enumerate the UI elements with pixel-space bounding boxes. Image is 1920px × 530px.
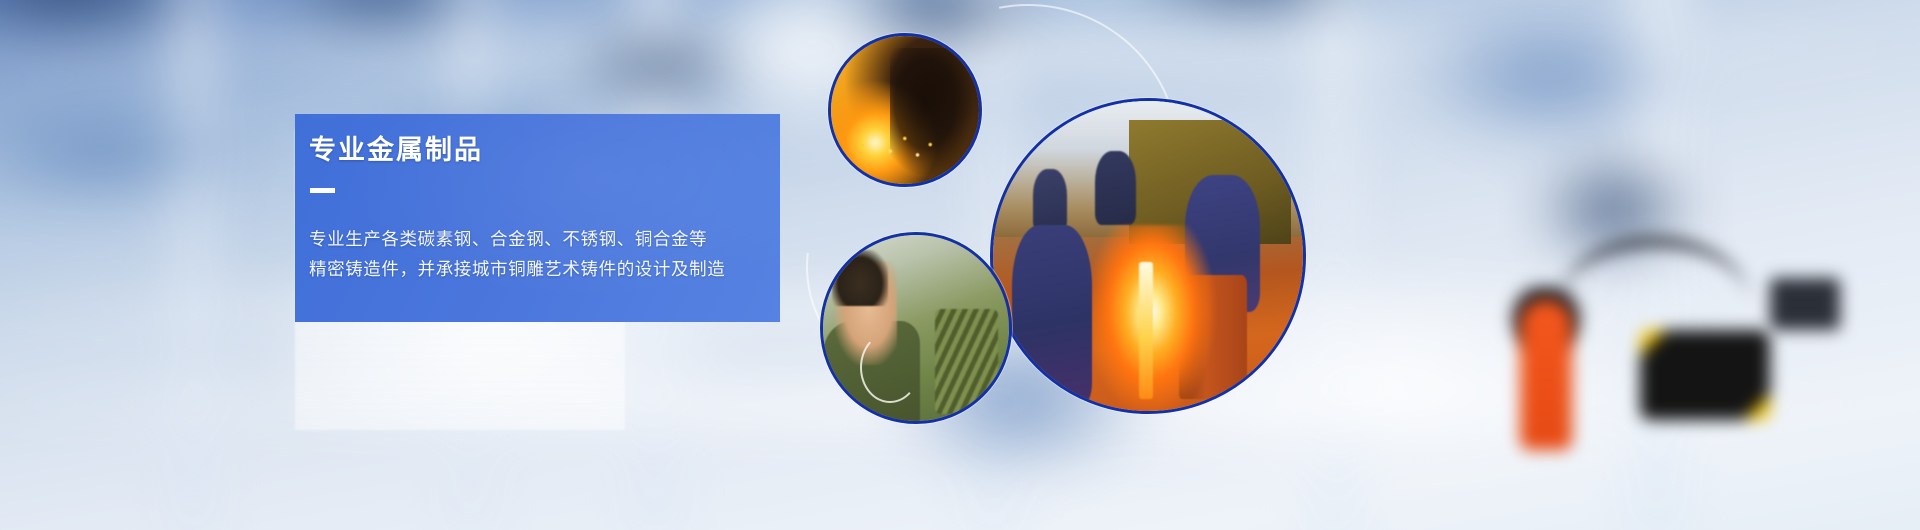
photo-foundry-pouring	[990, 98, 1306, 414]
hero-banner: 专业金属制品 专业生产各类碳素钢、合金钢、不锈钢、铜合金等 精密铸造件，并承接城…	[0, 0, 1920, 530]
page-title: 专业金属制品	[309, 136, 483, 166]
robot-arm-blur	[1520, 300, 1572, 450]
machine-hazard-box-blur	[1640, 330, 1770, 420]
photo-welding-sparks	[828, 33, 982, 187]
control-panel-blur	[1770, 278, 1840, 330]
description-line-2: 精密铸造件，并承接城市铜雕艺术铸件的设计及制造	[309, 254, 771, 284]
description-line-1: 专业生产各类碳素钢、合金钢、不锈钢、铜合金等	[309, 224, 771, 254]
photo-worker-assembly	[820, 232, 1012, 424]
headline-panel: 专业金属制品 专业生产各类碳素钢、合金钢、不锈钢、铜合金等 精密铸造件，并承接城…	[295, 114, 780, 322]
title-divider	[310, 188, 335, 193]
panel-description: 专业生产各类碳素钢、合金钢、不锈钢、铜合金等 精密铸造件，并承接城市铜雕艺术铸件…	[309, 224, 771, 284]
